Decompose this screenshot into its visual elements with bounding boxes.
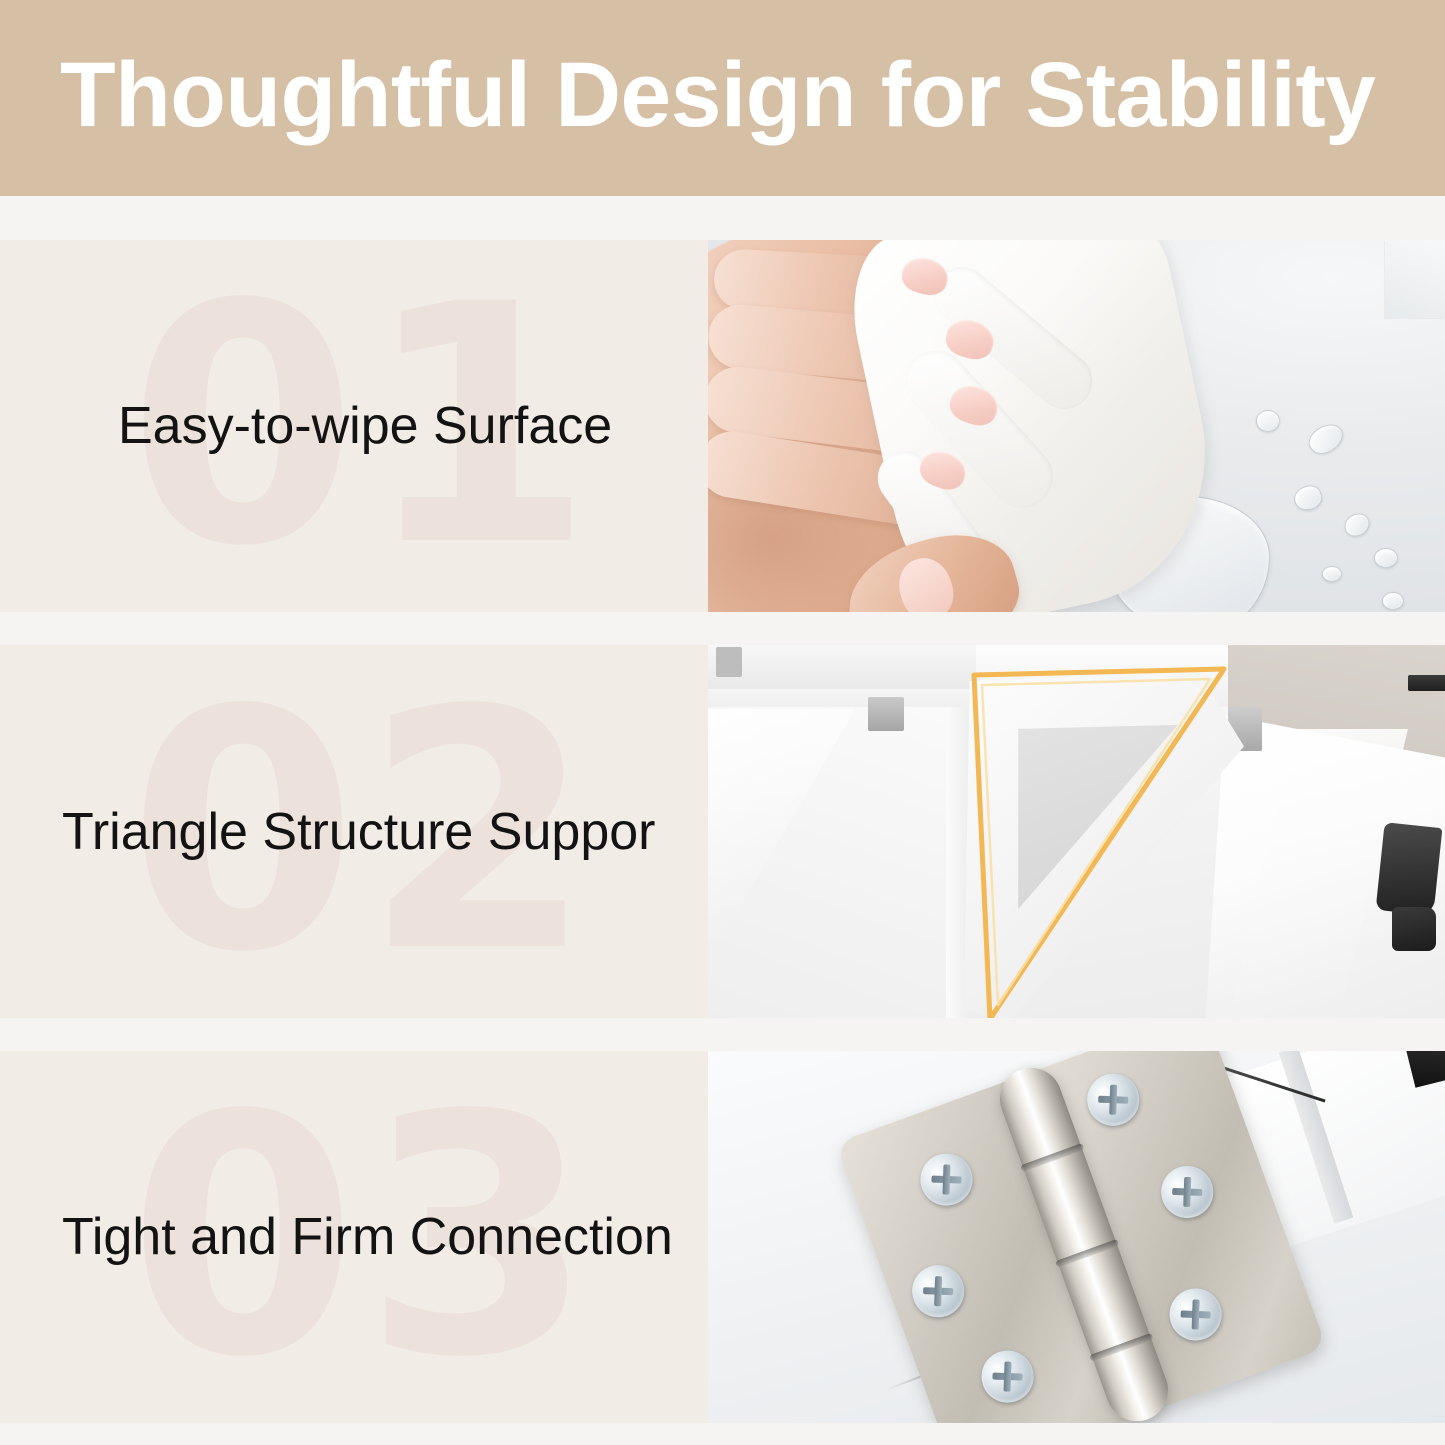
surface-seam bbox=[1385, 240, 1445, 318]
header-banner: Thoughtful Design for Stability bbox=[0, 0, 1445, 196]
triangle-bracket bbox=[964, 659, 1244, 1018]
ceiling-panel bbox=[708, 645, 976, 689]
feature-row-2: 02 Triangle Structure Suppor bbox=[0, 645, 1445, 1018]
divider-bottom bbox=[0, 1423, 1445, 1445]
feature-label-2: Triangle Structure Suppor bbox=[62, 801, 655, 863]
feature-row-1: 01 Easy-to-wipe Surface bbox=[0, 240, 1445, 612]
dark-clip bbox=[1408, 675, 1445, 691]
water-droplet bbox=[1374, 548, 1398, 568]
dark-reflection-object bbox=[1376, 822, 1443, 916]
bracket-body bbox=[964, 659, 1244, 1018]
metal-hardware bbox=[868, 697, 904, 731]
feature-label-1: Easy-to-wipe Surface bbox=[118, 395, 612, 457]
water-droplet bbox=[1382, 592, 1404, 610]
grey-tab bbox=[716, 647, 742, 677]
metal-hinge-photo bbox=[708, 1051, 1445, 1423]
feature-label-3: Tight and Firm Connection bbox=[62, 1206, 673, 1268]
feature-text-pane-2: 02 Triangle Structure Suppor bbox=[0, 645, 708, 1018]
water-droplet bbox=[1322, 566, 1342, 582]
hand-wiping-surface-photo bbox=[708, 240, 1445, 612]
dark-reflection-object bbox=[1392, 907, 1436, 951]
feature-text-pane-3: 03 Tight and Firm Connection bbox=[0, 1051, 708, 1423]
infographic-page: Thoughtful Design for Stability 01 Easy-… bbox=[0, 0, 1445, 1445]
feature-row-3: 03 Tight and Firm Connection bbox=[0, 1051, 1445, 1423]
page-title: Thoughtful Design for Stability bbox=[60, 36, 1387, 154]
divider-top bbox=[0, 196, 1445, 240]
water-droplet bbox=[1256, 410, 1280, 432]
divider-row2-row3 bbox=[0, 1018, 1445, 1051]
divider-row1-row2 bbox=[0, 612, 1445, 645]
feature-text-pane-1: 01 Easy-to-wipe Surface bbox=[0, 240, 708, 612]
triangle-bracket-photo bbox=[708, 645, 1445, 1018]
